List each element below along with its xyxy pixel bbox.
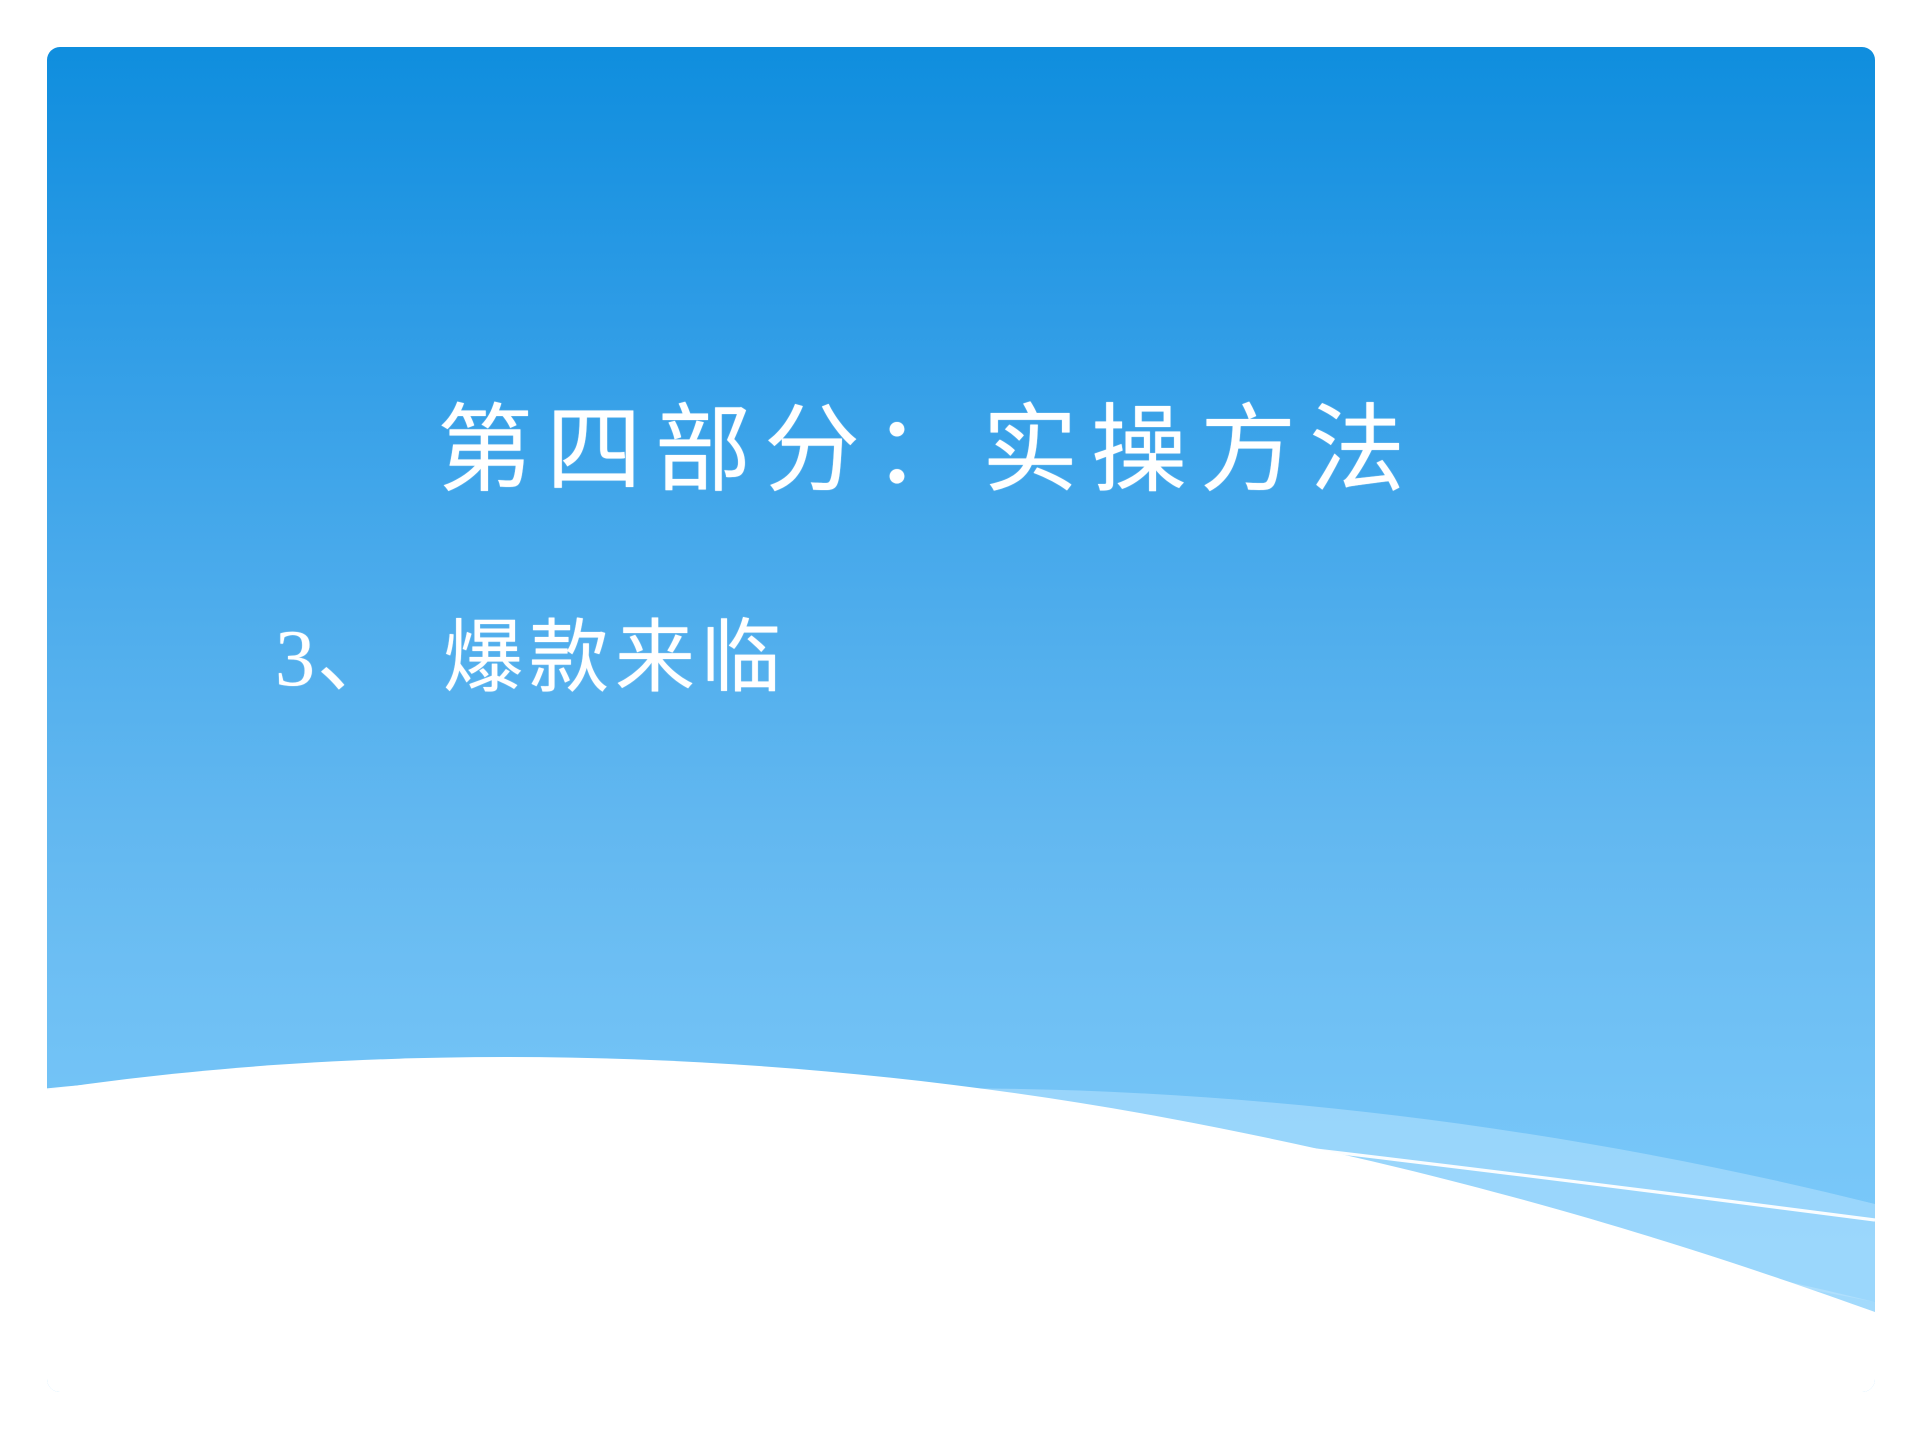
slide-subtitle: 3、爆款来临 (275, 615, 787, 705)
slide-subtitle-text: 爆款来临 (443, 615, 787, 703)
wave-main-white (47, 1057, 1875, 1392)
slide-title: 第四部分：实操方法 (437, 397, 1537, 505)
slide-subtitle-number: 3、 (275, 615, 399, 703)
slide-background: 第四部分：实操方法 3、爆款来临 (47, 47, 1875, 1392)
slide-canvas: 第四部分：实操方法 3、爆款来临 (0, 0, 1920, 1440)
wave-decoration (47, 972, 1875, 1392)
